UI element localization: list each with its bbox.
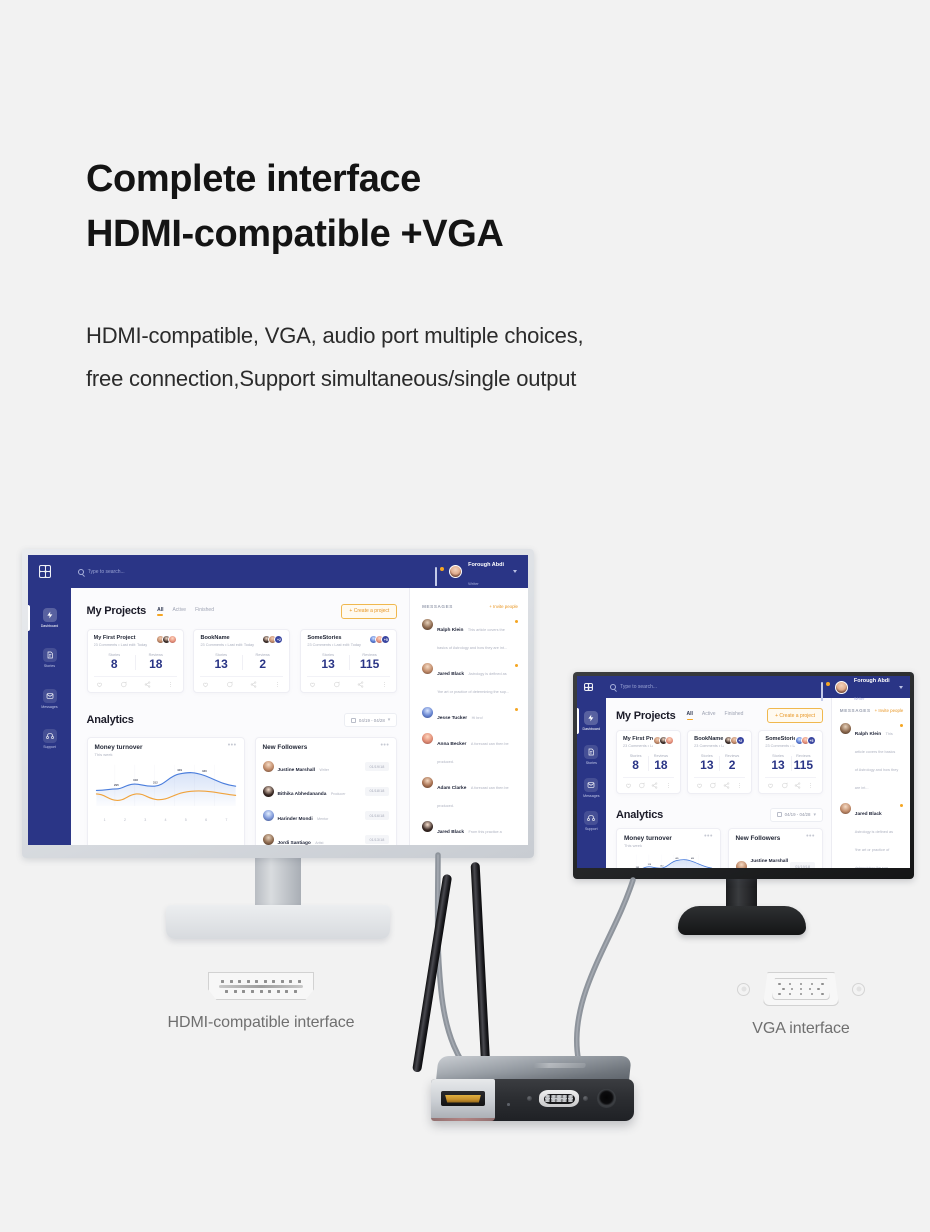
secondary-monitor-screen: Type to search... Forough Abdi Writer	[577, 676, 910, 868]
project-stat-value: 18	[648, 759, 673, 772]
project-stat-value: 2	[719, 759, 744, 772]
sidebar-item-messages-label: Messages	[583, 794, 599, 798]
notifications-bell-icon[interactable]	[435, 568, 443, 576]
product-scene: Type to search... Forough Abdi Writer	[0, 0, 930, 1232]
chart-x-tick: 6	[205, 818, 207, 822]
date-range-value: 04/19 - 04/28	[785, 812, 811, 817]
share-icon[interactable]	[250, 681, 257, 688]
dashboard-main: My Projects All Active Finished + Create…	[71, 588, 528, 845]
follower-role: Writer	[320, 768, 330, 772]
message-preview: Astrology is defined as 'the art or prac…	[855, 830, 893, 868]
notification-badge	[826, 682, 830, 686]
comment-icon[interactable]	[226, 681, 233, 688]
create-project-button[interactable]: + Create a project	[341, 604, 397, 619]
tab-all[interactable]: All	[687, 711, 693, 720]
hdmi-callout-label: HDMI-compatible interface	[120, 1014, 402, 1032]
follower-name: Jordi Santiago	[278, 841, 311, 845]
primary-monitor-screen: Type to search... Forough Abdi Writer	[28, 555, 528, 845]
message-sender: Jared Black	[855, 812, 882, 817]
sidebar-item-stories[interactable]: Stories	[577, 745, 606, 765]
project-stat-value: 115	[791, 759, 816, 772]
dashboard-icon	[43, 608, 57, 622]
list-item[interactable]: Ralph Klein This article covers the basi…	[422, 614, 518, 658]
dashboard-body: Dashboard Stories	[28, 588, 528, 845]
svg-text:312: 312	[152, 780, 157, 784]
sidebar-item-dashboard-label: Dashboard	[583, 727, 601, 731]
messages-header: MESSAGES + Invite people	[422, 604, 518, 609]
search-placeholder: Type to search...	[88, 569, 125, 575]
dashboard-app: Type to search... Forough Abdi Writer	[28, 555, 528, 845]
project-stat-reviews: Reviews 115	[349, 653, 390, 676]
message-sender: Jesse Tucker	[437, 716, 467, 721]
project-stat-reviews: Reviews 18	[135, 653, 176, 676]
heart-icon[interactable]	[625, 782, 632, 789]
search-icon	[610, 684, 616, 690]
project-card-title: My First Project	[623, 736, 653, 742]
svg-text:430: 430	[691, 857, 694, 860]
project-stat-value: 115	[349, 658, 390, 671]
antenna-left	[412, 874, 452, 1073]
analytics-title: Analytics	[87, 714, 134, 726]
more-options-icon[interactable]: •••	[228, 744, 237, 748]
chart-x-tick: 5	[185, 818, 187, 822]
avatar	[422, 619, 433, 630]
avatar	[736, 861, 747, 868]
heart-icon[interactable]	[309, 681, 316, 688]
hdmi-callout: HDMI-compatible interface	[120, 972, 402, 1032]
more-options-icon[interactable]: •••	[806, 835, 815, 839]
money-turnover-subtitle: This week	[624, 843, 672, 848]
new-followers-list: Justine Marshall Writer 01/19/18	[263, 755, 390, 845]
message-sender: Jared Black	[437, 672, 464, 677]
avatar[interactable]	[835, 681, 848, 694]
project-card-subtitle: 23 Comments • Last edit: Today	[694, 744, 724, 748]
list-item[interactable]: Ralph Klein This article covers the basi…	[840, 718, 904, 798]
app-logo-icon[interactable]	[39, 565, 51, 577]
follower-role: Artist	[315, 841, 323, 845]
more-options-icon[interactable]: •••	[704, 835, 713, 839]
analytics-title: Analytics	[616, 809, 663, 821]
messages-list: Ralph Klein This article covers the basi…	[422, 614, 518, 845]
project-card-title: SomeStories	[765, 736, 795, 742]
list-item[interactable]: Adam Clarke A forecast can then be produ…	[422, 772, 518, 816]
money-turnover-title: Money turnover	[95, 744, 143, 751]
user-meta: Forough Abdi Writer	[468, 555, 504, 590]
avatar	[422, 821, 433, 832]
heart-icon[interactable]	[202, 681, 209, 688]
follower-date: 01/13/18	[365, 835, 390, 844]
comment-icon[interactable]	[781, 782, 788, 789]
project-card[interactable]: SomeStories 23 Comments • Last edit: Tod…	[300, 629, 397, 693]
share-icon[interactable]	[144, 681, 151, 688]
share-icon[interactable]	[357, 681, 364, 688]
hdmi-connector-icon	[208, 972, 314, 1000]
message-preview: Hi bro!	[472, 716, 483, 720]
primary-monitor-stand-base	[166, 905, 390, 939]
dashboard-topbar-mirror: Type to search... Forough Abdi Writer	[577, 676, 910, 698]
sidebar-item-stories-label: Stories	[586, 761, 597, 765]
project-stat-stories: Stories 8	[94, 653, 135, 676]
comment-icon[interactable]	[120, 681, 127, 688]
svg-text:429: 429	[675, 857, 678, 860]
unread-indicator	[515, 664, 518, 667]
invite-people-button[interactable]: + Invite people	[489, 604, 518, 609]
avatar-overflow-count: +2	[736, 736, 745, 745]
user-name: Forough Abdi	[854, 678, 890, 684]
project-stat-value: 13	[200, 658, 241, 671]
more-options-icon[interactable]	[167, 681, 174, 688]
follower-date: 01/19/18	[365, 762, 390, 771]
follower-name: Bithika Abhedananda	[278, 792, 327, 797]
svg-text:318: 318	[648, 864, 651, 866]
project-card-subtitle: 23 Comments • Last edit: Today	[765, 744, 795, 748]
sidebar-item-messages-label: Messages	[41, 705, 57, 709]
project-card-actions	[94, 676, 177, 692]
analytics-header: Analytics 04/19 - 04/28 ▾	[87, 713, 398, 727]
vga-screw-left	[527, 1096, 532, 1101]
vga-connector-icon	[763, 972, 839, 1006]
vga-screw-hole-left	[737, 983, 750, 996]
unread-indicator	[515, 708, 518, 711]
messages-label: MESSAGES	[840, 708, 871, 713]
list-item[interactable]: Bithika Abhedananda Producer 01/18/18	[263, 779, 390, 803]
stories-icon	[43, 648, 57, 662]
project-card-subtitle: 23 Comments • Last edit: Today	[200, 643, 254, 647]
secondary-monitor-stand-base	[678, 906, 806, 935]
new-followers-title: New Followers	[736, 835, 781, 842]
antenna-right	[471, 862, 490, 1062]
app-logo-icon[interactable]	[584, 683, 592, 691]
avatar	[168, 635, 177, 644]
follower-date: 01/19/18	[790, 862, 815, 868]
sidebar-item-stories[interactable]: Stories	[28, 648, 71, 668]
more-options-icon[interactable]	[274, 681, 281, 688]
messages-label: MESSAGES	[422, 604, 453, 609]
project-card-subtitle: 23 Comments • Last edit: Today	[623, 744, 653, 748]
line-chart-svg: 295 318 312 429 430	[95, 762, 237, 817]
adapter-body	[431, 1056, 634, 1121]
sidebar-item-dashboard[interactable]: Dashboard	[577, 711, 606, 731]
chart-x-tick: 3	[144, 818, 146, 822]
chevron-down-icon[interactable]	[513, 570, 517, 573]
analytics-panels: Money turnover This week •••	[87, 737, 398, 845]
messages-icon	[43, 689, 57, 703]
sidebar-item-dashboard[interactable]: Dashboard	[28, 608, 71, 628]
svg-text:429: 429	[177, 768, 182, 772]
project-cards: My First Project 23 Comments • Last edit…	[87, 629, 398, 693]
brand-emboss	[533, 1063, 586, 1068]
list-item[interactable]: Justine Marshall Writer 01/19/18	[263, 755, 390, 779]
list-item[interactable]: Anna Becker A forecast can then be produ…	[422, 728, 518, 772]
more-options-icon[interactable]	[665, 782, 672, 789]
follower-name: Justine Marshall	[751, 859, 789, 864]
project-card[interactable]: My First Project 23 Comments • Last edit…	[87, 629, 184, 693]
project-card[interactable]: My First Project 23 Comments • Last edit…	[616, 730, 681, 794]
date-range-value: 04/19 - 04/28	[359, 718, 385, 723]
list-item[interactable]: Justine Marshall Writer 01/19/18	[736, 846, 815, 868]
new-followers-panel: New Followers ••• Justine Marshall	[728, 828, 823, 868]
sidebar: Dashboard Stories	[28, 588, 71, 845]
chart-x-tick: 4	[165, 818, 167, 822]
dashboard-topbar: Type to search... Forough Abdi Writer	[28, 555, 528, 588]
avatar-overflow-count: +2	[274, 635, 283, 644]
comment-icon[interactable]	[333, 681, 340, 688]
primary-monitor-stand-neck	[255, 856, 301, 909]
avatar	[665, 736, 674, 745]
list-item[interactable]: Jordi Santiago Artist 01/13/18	[263, 828, 390, 845]
vga-screw-right	[583, 1096, 588, 1101]
heart-icon[interactable]	[696, 782, 703, 789]
sidebar-item-support[interactable]: Support	[28, 729, 71, 749]
heart-icon[interactable]	[767, 782, 774, 789]
adapter-hdmi-port	[441, 1091, 485, 1106]
tab-finished[interactable]: Finished	[195, 607, 214, 616]
dashboard-app-mirror: Type to search... Forough Abdi Writer	[577, 676, 910, 868]
sidebar-mirror: Dashboard Stories	[577, 698, 606, 868]
project-card[interactable]: BookName 23 Comments • Last edit: Today …	[687, 730, 752, 794]
vga-callout-label: VGA interface	[660, 1020, 930, 1038]
search-icon	[78, 569, 84, 575]
create-project-button[interactable]: + Create a project	[767, 708, 823, 723]
tab-active[interactable]: Active	[702, 711, 716, 720]
new-followers-panel: New Followers ••• Justine Marshall	[255, 737, 398, 845]
calendar-icon	[351, 718, 356, 723]
svg-text:430: 430	[201, 769, 206, 773]
more-options-icon[interactable]	[381, 681, 388, 688]
project-stat-reviews: Reviews 2	[242, 653, 283, 676]
message-preview: This article covers the basics of Astrol…	[855, 732, 898, 790]
follower-date: 01/18/18	[365, 787, 390, 796]
chart-x-tick: 7	[225, 818, 227, 822]
svg-text:312: 312	[660, 865, 663, 867]
project-stat-value: 2	[242, 658, 283, 671]
avatar	[422, 707, 433, 718]
status-led	[507, 1103, 510, 1106]
invite-people-button[interactable]: + Invite people	[875, 708, 904, 713]
avatar	[840, 803, 851, 814]
tab-active[interactable]: Active	[172, 607, 186, 616]
new-followers-title: New Followers	[263, 744, 308, 751]
project-stat-stories: Stories 13	[200, 653, 241, 676]
search-bar[interactable]: Type to search...	[610, 684, 657, 690]
date-range-picker[interactable]: 04/19 - 04/28 ▾	[770, 808, 823, 822]
avatar-overflow-count: +5	[807, 736, 816, 745]
share-icon[interactable]	[794, 782, 801, 789]
project-stat-value: 13	[307, 658, 348, 671]
project-stat-value: 18	[135, 658, 176, 671]
project-stat-value: 13	[694, 759, 719, 772]
project-card-avatars: +2	[262, 635, 283, 644]
list-item[interactable]: Jared Black From this practice a horosco…	[422, 816, 518, 845]
project-stat-value: 8	[94, 658, 135, 671]
sidebar-item-support-label: Support	[585, 827, 598, 831]
date-range-picker[interactable]: 04/19 - 04/28 ▾	[344, 713, 397, 727]
user-name: Forough Abdi	[468, 562, 504, 568]
avatar	[263, 810, 274, 821]
money-turnover-chart: 295 318 312 429 430	[95, 762, 237, 822]
list-item[interactable]: Jared Black Astrology is defined as 'the…	[840, 798, 904, 868]
avatar	[422, 777, 433, 788]
project-tabs: All Active Finished	[157, 607, 214, 616]
sidebar-item-messages[interactable]: Messages	[28, 689, 71, 709]
messages-panel: MESSAGES + Invite people Ralph Klein Thi…	[409, 588, 528, 845]
more-options-icon[interactable]	[736, 782, 743, 789]
project-card-subtitle: 23 Comments • Last edit: Today	[307, 643, 361, 647]
project-stat-value: 8	[623, 759, 648, 772]
project-card-title: BookName	[200, 635, 254, 641]
messages-panel-mirror: MESSAGES + Invite people Ralph Klein Thi…	[831, 698, 910, 868]
avatar	[263, 761, 274, 772]
topbar-right-cluster: Forough Abdi Writer	[435, 555, 517, 590]
sidebar-item-support-label: Support	[43, 745, 56, 749]
message-sender: Jared Black	[437, 830, 464, 835]
notifications-bell-icon[interactable]	[821, 683, 829, 691]
project-card-title: My First Project	[94, 635, 148, 641]
adapter-audio-jack	[597, 1089, 616, 1108]
search-placeholder: Type to search...	[620, 684, 657, 690]
share-icon[interactable]	[723, 782, 730, 789]
user-role: Writer	[468, 581, 479, 586]
sidebar-item-messages[interactable]: Messages	[577, 778, 606, 798]
chart-x-axis-labels: 1 2 3 4 5 6 7	[95, 818, 237, 822]
project-card-actions	[200, 676, 283, 692]
stories-icon	[584, 745, 598, 759]
list-item[interactable]: Harinder Mondi Mentor 01/16/18	[263, 803, 390, 827]
list-item[interactable]: Jesse Tucker Hi bro!	[422, 702, 518, 728]
wireless-display-adapter	[393, 862, 648, 1142]
avatar	[422, 733, 433, 744]
tab-all[interactable]: All	[157, 607, 163, 616]
secondary-monitor-bezel: Type to search... Forough Abdi Writer	[573, 672, 914, 879]
comment-icon[interactable]	[638, 782, 645, 789]
support-icon	[584, 811, 598, 825]
unread-indicator	[515, 620, 518, 623]
avatar[interactable]	[449, 565, 462, 578]
avatar	[263, 786, 274, 797]
avatar	[840, 723, 851, 734]
vga-screw-hole-right	[852, 983, 865, 996]
message-sender: Anna Becker	[437, 742, 466, 747]
project-card-avatars: +5	[369, 635, 390, 644]
chart-x-tick: 2	[124, 818, 126, 822]
avatar	[422, 663, 433, 674]
vga-callout: VGA interface	[660, 972, 930, 1038]
more-options-icon[interactable]: •••	[380, 744, 389, 748]
project-stat-value: 13	[765, 759, 790, 772]
project-card-avatars	[156, 635, 177, 644]
message-sender: Adam Clarke	[437, 786, 466, 791]
dashboard-content: My Projects All Active Finished + Create…	[71, 588, 409, 845]
sidebar-item-dashboard-label: Dashboard	[41, 624, 59, 628]
user-role: Writer	[854, 696, 865, 701]
chevron-down-icon[interactable]	[899, 686, 903, 689]
chart-x-tick: 1	[104, 818, 106, 822]
project-card-actions	[307, 676, 390, 692]
project-card-title: BookName	[694, 736, 724, 742]
avatar-overflow-count: +5	[381, 635, 390, 644]
money-turnover-title: Money turnover	[624, 835, 672, 842]
message-sender: Ralph Klein	[855, 732, 881, 737]
follower-name: Justine Marshall	[278, 768, 316, 773]
share-icon[interactable]	[651, 782, 658, 789]
project-card-title: SomeStories	[307, 635, 361, 641]
calendar-icon	[777, 812, 782, 817]
dashboard-icon	[584, 711, 598, 725]
money-turnover-subtitle: This week	[95, 752, 143, 757]
sidebar-item-support[interactable]: Support	[577, 811, 606, 831]
svg-text:295: 295	[113, 783, 118, 787]
heart-icon[interactable]	[96, 681, 103, 688]
project-card[interactable]: BookName 23 Comments • Last edit: Today …	[193, 629, 290, 693]
more-options-icon[interactable]	[807, 782, 814, 789]
primary-monitor-bezel: Type to search... Forough Abdi Writer	[22, 549, 534, 858]
avatar	[263, 834, 274, 845]
adapter-vga-port	[539, 1090, 580, 1107]
notification-badge	[440, 567, 444, 571]
page-title: My Projects	[87, 605, 147, 617]
svg-text:318: 318	[133, 778, 138, 782]
project-stat-stories: Stories 13	[307, 653, 348, 676]
project-card-subtitle: 23 Comments • Last edit: Today	[94, 643, 148, 647]
search-bar[interactable]: Type to search...	[78, 569, 125, 575]
project-card[interactable]: SomeStories 23 Comments • Last edit: Tod…	[758, 730, 823, 794]
message-sender: Ralph Klein	[437, 628, 463, 633]
messages-icon	[584, 778, 598, 792]
page-title: My Projects	[616, 710, 676, 722]
comment-icon[interactable]	[709, 782, 716, 789]
follower-role: Producer	[331, 792, 346, 796]
sidebar-item-stories-label: Stories	[44, 664, 55, 668]
support-icon	[43, 729, 57, 743]
follower-date: 01/16/18	[365, 811, 390, 820]
follower-name: Harinder Mondi	[278, 817, 313, 822]
list-item[interactable]: Jared Black Astrology is defined as 'the…	[422, 658, 518, 702]
projects-header: My Projects All Active Finished + Create…	[87, 604, 398, 619]
tab-finished[interactable]: Finished	[725, 711, 744, 720]
follower-role: Mentor	[317, 817, 328, 821]
money-turnover-panel: Money turnover This week •••	[87, 737, 245, 845]
